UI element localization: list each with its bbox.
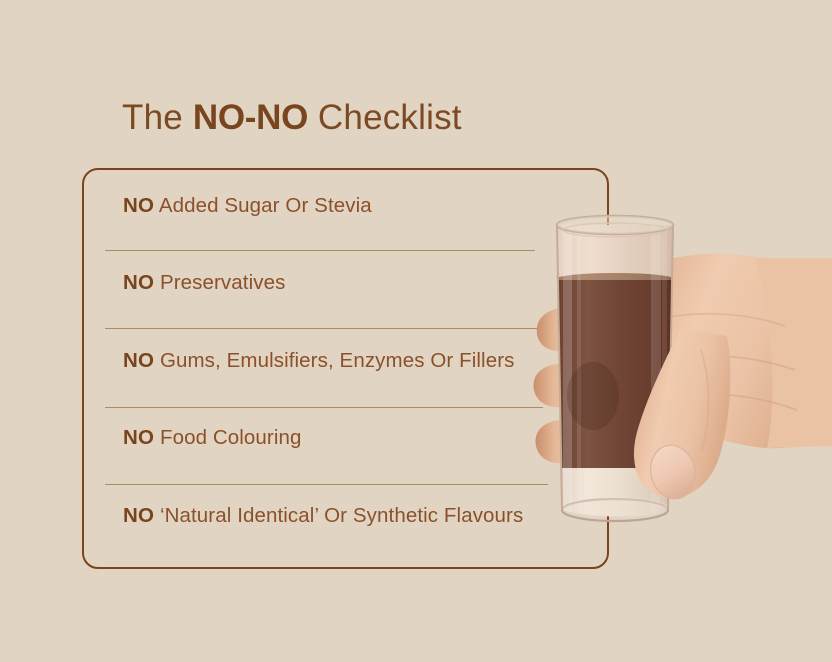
title-strong: NO-NO (193, 98, 308, 137)
list-item: NO Added Sugar Or Stevia (105, 176, 551, 250)
list-item-text: Gums, Emulsifiers, Enzymes Or Fillers (160, 349, 515, 372)
list-item: NO Preservatives (105, 253, 551, 327)
list-divider (105, 250, 535, 251)
list-item: NO Gums, Emulsifiers, Enzymes Or Fillers (105, 331, 551, 405)
no-prefix: NO (123, 504, 154, 527)
list-divider (105, 484, 548, 485)
list-item-text: Food Colouring (160, 426, 302, 449)
list-item-text: Preservatives (160, 271, 285, 294)
hand-holding-glass-photo (505, 200, 832, 530)
title-prefix: The (122, 98, 193, 137)
list-item-label: NO Preservatives (123, 271, 285, 295)
no-prefix: NO (123, 349, 154, 372)
list-item-label: NO ‘Natural Identical’ Or Synthetic Flav… (123, 504, 523, 528)
no-prefix: NO (123, 426, 154, 449)
list-item-label: NO Food Colouring (123, 426, 302, 450)
list-item-text: Added Sugar Or Stevia (159, 194, 372, 217)
list-item-label: NO Gums, Emulsifiers, Enzymes Or Fillers (123, 349, 514, 373)
page-title: The NO-NO Checklist (122, 98, 462, 138)
title-suffix: Checklist (308, 98, 462, 137)
no-prefix: NO (123, 194, 154, 217)
list-item: NO Food Colouring (105, 408, 551, 482)
checklist-graphic: The NO-NO Checklist NO Added Sugar Or St… (0, 0, 832, 662)
list-item-label: NO Added Sugar Or Stevia (123, 194, 372, 218)
list-item-text: ‘Natural Identical’ Or Synthetic Flavour… (160, 504, 523, 527)
list-divider (105, 328, 537, 329)
no-prefix: NO (123, 271, 154, 294)
